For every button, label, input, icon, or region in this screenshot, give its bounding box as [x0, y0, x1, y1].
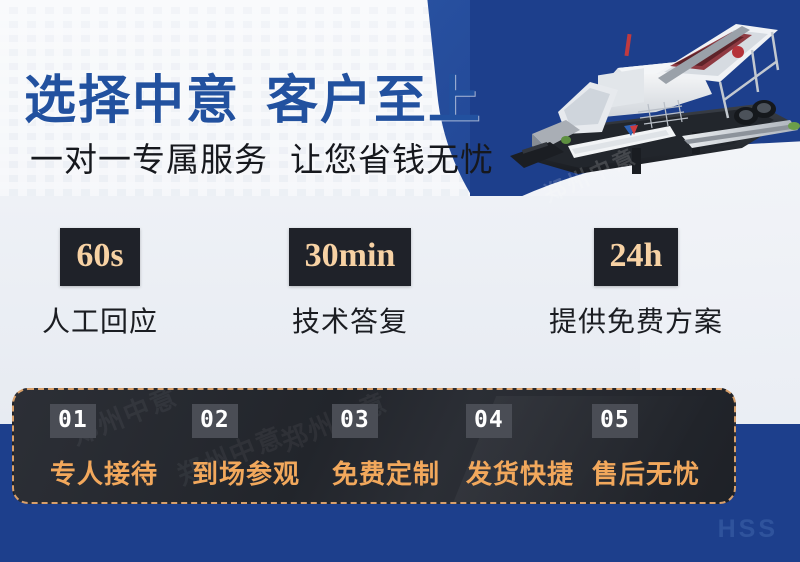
step-item: 05 售后无忧: [592, 404, 700, 491]
promo-banner: 郑州中意 选择中意客户至上 一对一专属服务让您省钱无忧 60s 人工回应 30m…: [0, 0, 800, 562]
step-label: 免费定制: [332, 454, 440, 491]
feature-caption: 提供免费方案: [518, 300, 754, 340]
feature-value-badge: 24h: [594, 228, 679, 286]
feature-list: 60s 人工回应 30min 技术答复 24h 提供免费方案: [0, 228, 800, 348]
step-number: 05: [592, 404, 638, 438]
step-number: 01: [50, 404, 96, 438]
feature-item: 30min 技术答复: [262, 228, 438, 340]
feature-caption: 人工回应: [18, 300, 182, 340]
product-image: 郑州中意: [506, 8, 800, 198]
step-label: 到场参观: [192, 454, 300, 491]
feature-value-badge: 60s: [60, 228, 139, 286]
step-number: 04: [466, 404, 512, 438]
step-item: 03 免费定制: [332, 404, 440, 491]
step-item: 04 发货快捷: [466, 404, 574, 491]
feature-value-badge: 30min: [289, 228, 412, 286]
subheadline-part-1: 一对一专属服务: [30, 140, 268, 179]
headline-part-1: 选择中意: [24, 71, 240, 131]
step-number: 02: [192, 404, 238, 438]
step-item: 02 到场参观: [192, 404, 300, 491]
subheadline-part-2: 让您省钱无忧: [290, 140, 494, 179]
step-item: 01 专人接待: [50, 404, 158, 491]
step-label: 专人接待: [50, 454, 158, 491]
feature-caption: 技术答复: [262, 300, 438, 340]
step-number: 03: [332, 404, 378, 438]
headline: 选择中意客户至上: [24, 58, 482, 133]
footer-mark: HSS: [718, 515, 778, 544]
step-label: 发货快捷: [466, 454, 574, 491]
step-label: 售后无忧: [592, 454, 700, 491]
feature-item: 60s 人工回应: [18, 228, 182, 340]
service-steps-panel: 郑州中意 郑州中意 郑州中意 01 专人接待 02 到场参观 03 免费定制 0…: [12, 388, 736, 504]
subheadline: 一对一专属服务让您省钱无忧: [30, 133, 494, 181]
feature-item: 24h 提供免费方案: [518, 228, 754, 340]
headline-part-2: 客户至上: [266, 71, 482, 131]
